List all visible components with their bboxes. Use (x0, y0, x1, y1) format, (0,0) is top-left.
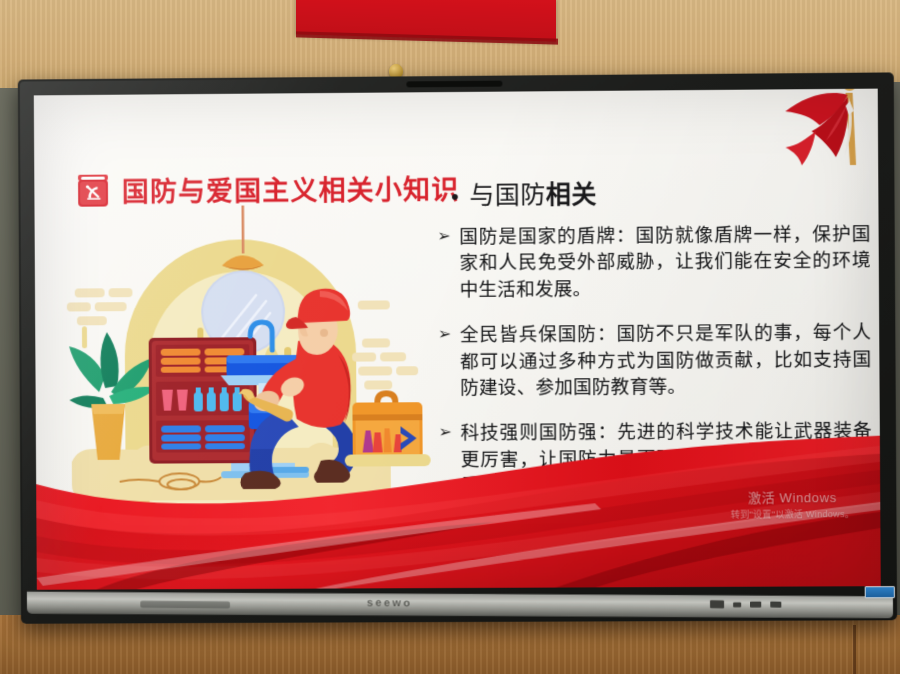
interactive-display[interactable]: 国防与爱国主义相关小知识 (18, 72, 897, 623)
wall-lower-panel (0, 615, 900, 674)
heading-bullet-mark: • (451, 186, 459, 208)
party-book-icon (76, 172, 110, 208)
chin-speaker-grille (140, 601, 230, 608)
display-screen[interactable]: 国防与爱国主义相关小知识 (34, 89, 881, 590)
bullet-text: 国防是国家的盾牌：国防就像盾牌一样，保护国家和人民免受外部威胁，让我们能在安全的… (459, 221, 871, 303)
powerpoint-slide[interactable]: 国防与爱国主义相关小知识 (34, 89, 881, 590)
device-sticker (865, 586, 895, 598)
usb-port-icon[interactable] (710, 600, 724, 608)
bullet-arrow-icon: ➢ (437, 224, 452, 303)
photo-scene: 国防与爱国主义相关小知识 (0, 0, 900, 674)
bullet-arrow-icon: ➢ (438, 322, 453, 401)
list-item: ➢ 全民皆兵保国防：国防不只是军队的事，每个人都可以通过多种方式为国防做贡献，比… (438, 320, 872, 402)
wall-seam (853, 625, 856, 674)
section-heading: • 与国防相关 (451, 173, 870, 212)
port-icon[interactable] (750, 601, 761, 607)
camera-bar (406, 81, 502, 88)
red-flag-icon (749, 89, 870, 180)
heading-part-bold: 相关 (546, 181, 597, 209)
red-silk-wave (36, 436, 881, 590)
bullet-text: 全民皆兵保国防：国防不只是军队的事，每个人都可以通过多种方式为国防做贡献，比如支… (460, 320, 872, 402)
page-title: 国防与爱国主义相关小知识 (122, 168, 460, 209)
brand-logo: seewo (330, 597, 450, 614)
heading-part-normal: 与国防 (469, 181, 546, 210)
port-panel[interactable] (710, 598, 861, 611)
port-icon[interactable] (770, 602, 781, 608)
list-item: ➢ 国防是国家的盾牌：国防就像盾牌一样，保护国家和人民免受外部威胁，让我们能在安… (437, 221, 871, 303)
port-icon[interactable] (733, 602, 741, 607)
